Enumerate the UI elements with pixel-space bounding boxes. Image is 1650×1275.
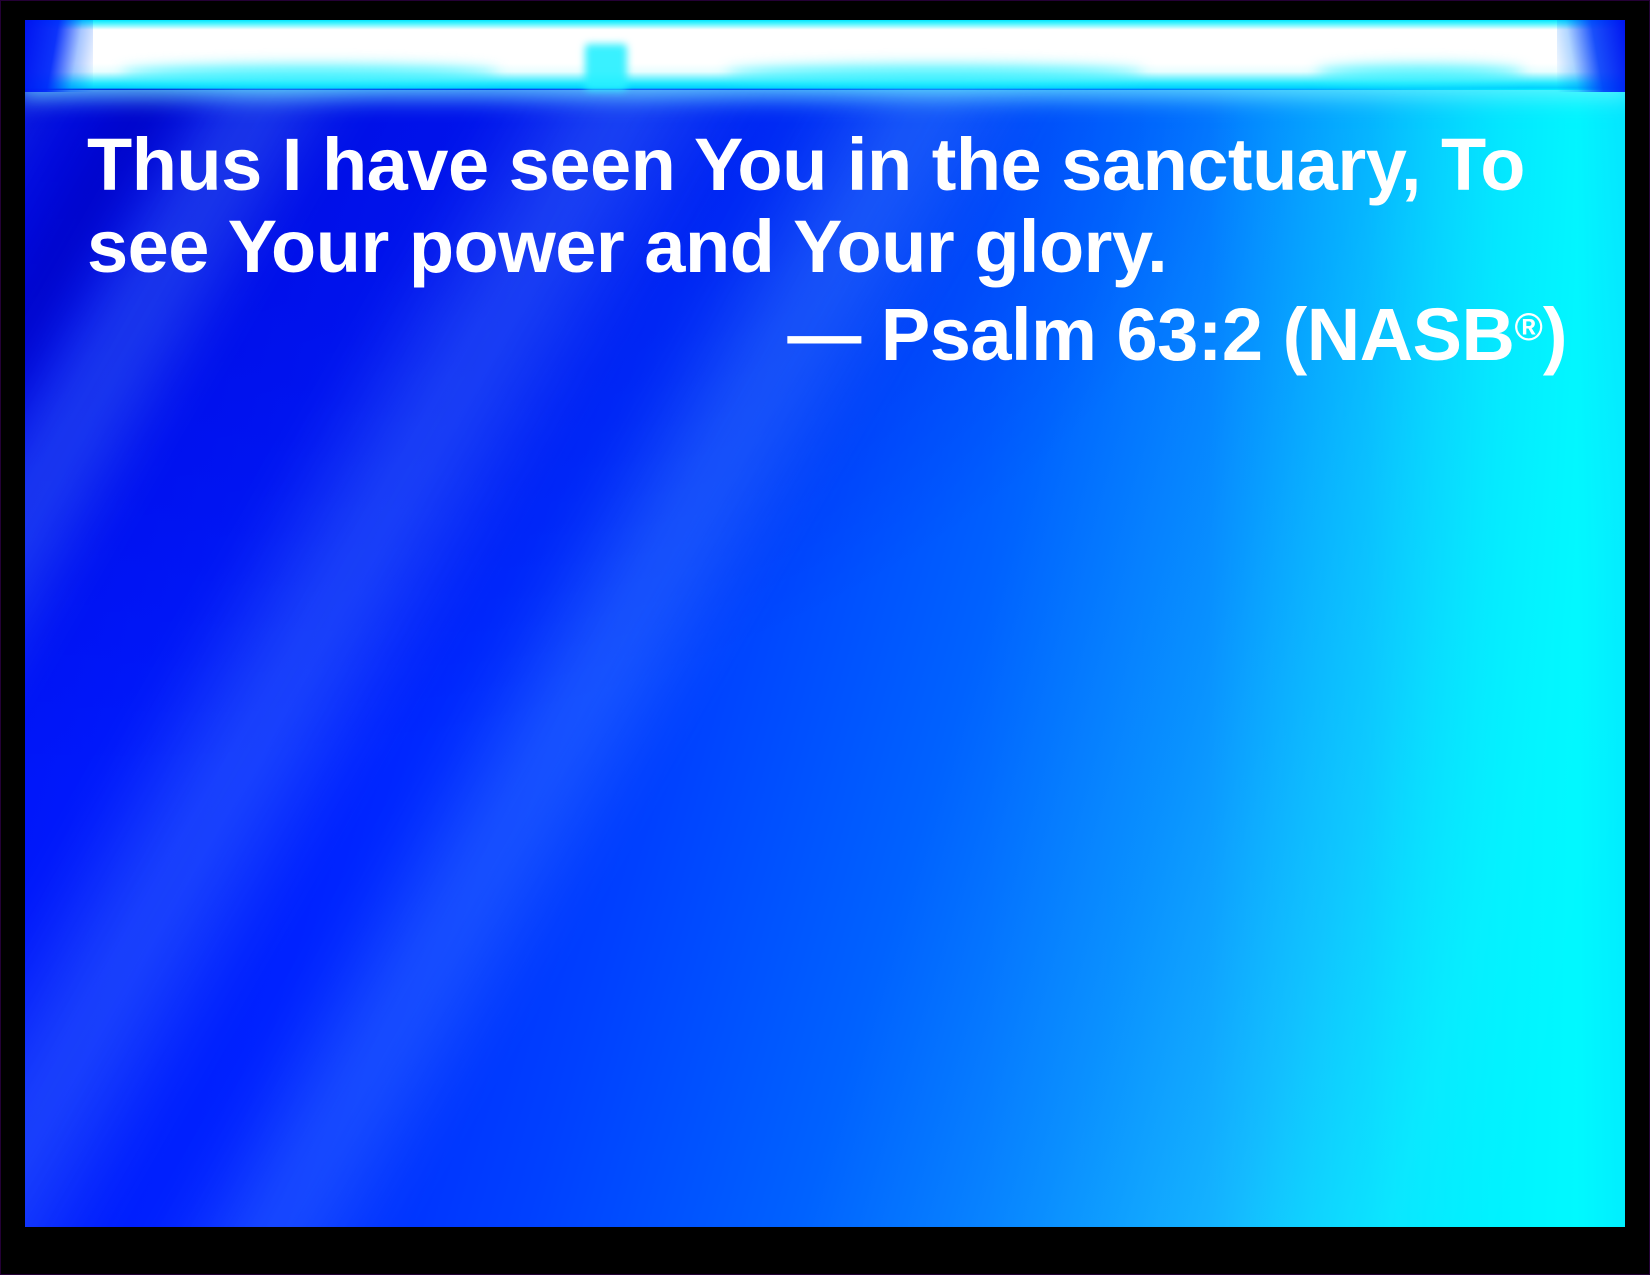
- verse-reference: — Psalm 63:2 (NASB®): [87, 298, 1567, 372]
- reference-open-paren: (: [1263, 293, 1307, 376]
- registered-trademark-icon: ®: [1514, 306, 1542, 349]
- band-cyan-notch: [585, 44, 627, 90]
- verse-line-2: see Your power and Your glory.: [87, 210, 1167, 284]
- verse-line-1: Thus I have seen You in the sanctuary, T…: [87, 128, 1525, 202]
- reference-em-dash: —: [787, 293, 881, 376]
- top-band-right-fade: [1557, 20, 1625, 92]
- verse-image-canvas: Thus I have seen You in the sanctuary, T…: [0, 0, 1650, 1275]
- band-cyan-blotch-center: [725, 65, 1145, 83]
- reference-citation: Psalm 63:2: [881, 293, 1263, 376]
- verse-background: Thus I have seen You in the sanctuary, T…: [25, 20, 1625, 1227]
- band-cyan-blotch-right: [1315, 65, 1525, 82]
- band-cyan-blotch-left: [120, 65, 500, 83]
- top-band-left-fade: [25, 20, 93, 92]
- reference-translation-abbr: NASB: [1307, 293, 1515, 376]
- reference-close-paren: ): [1543, 293, 1567, 376]
